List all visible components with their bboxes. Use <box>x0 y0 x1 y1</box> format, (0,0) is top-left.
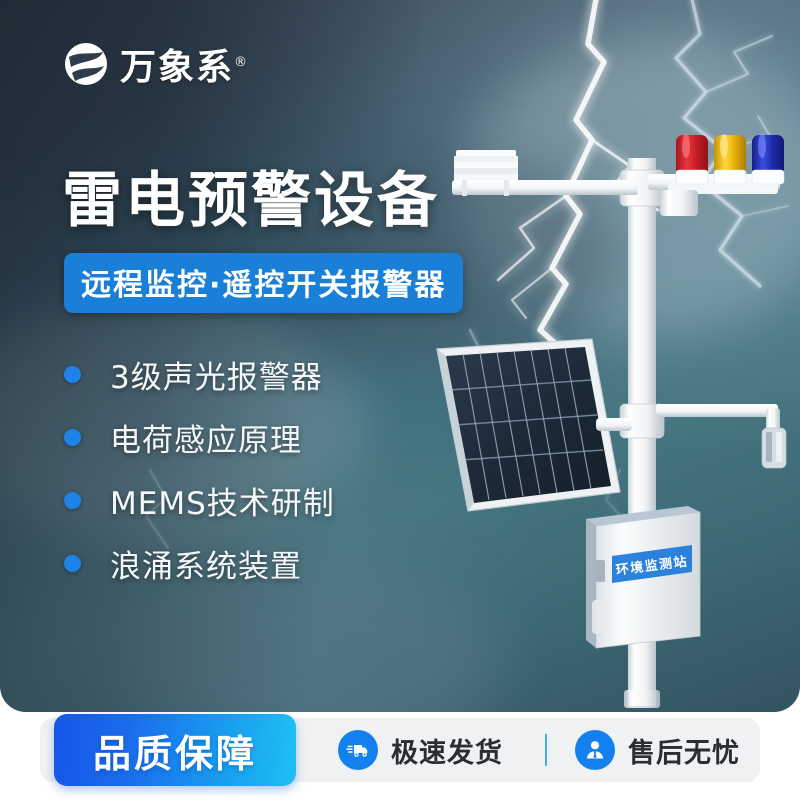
bullet-dot-icon <box>64 492 81 509</box>
list-item: MEMS技术研制 <box>64 470 335 530</box>
page-title: 雷电预警设备 <box>62 152 440 239</box>
trust-item-after-sales[interactable]: 售后无忧 <box>575 730 740 770</box>
delivery-truck-icon <box>338 730 378 770</box>
trust-bar-divider <box>545 734 547 766</box>
feature-label: 浪涌系统装置 <box>110 541 302 586</box>
bullet-dot-icon <box>64 555 81 572</box>
brand-name: 万象系® <box>120 38 247 90</box>
brand-sphere-icon <box>62 40 110 88</box>
list-item: 浪涌系统装置 <box>64 533 335 593</box>
product-poster: 环境监测站 万象系® 雷电预警设备 远程监控·遥控开关报警器 3级声光报警器 <box>0 0 800 800</box>
brand-logo: 万象系® <box>62 38 247 90</box>
subtitle-badge: 远程监控·遥控开关报警器 <box>64 253 463 313</box>
bullet-dot-icon <box>64 366 81 383</box>
solar-panel <box>437 339 632 511</box>
quality-guarantee-badge[interactable]: 品质保障 <box>54 714 296 786</box>
feature-list: 3级声光报警器 电荷感应原理 MEMS技术研制 浪涌系统装置 <box>64 344 335 596</box>
list-item: 3级声光报警器 <box>64 344 335 404</box>
feature-label: 3级声光报警器 <box>110 352 323 397</box>
feature-label: 电荷感应原理 <box>110 415 302 460</box>
hero-background: 环境监测站 万象系® 雷电预警设备 远程监控·遥控开关报警器 3级声光报警器 <box>0 0 800 712</box>
list-item: 电荷感应原理 <box>64 407 335 467</box>
trust-item-label: 售后无忧 <box>628 731 740 770</box>
trust-item-label: 极速发货 <box>391 731 503 770</box>
quality-guarantee-label: 品质保障 <box>93 723 257 778</box>
camera-sensor <box>656 404 786 468</box>
trust-item-fast-shipping[interactable]: 极速发货 <box>338 730 503 770</box>
feature-label: MEMS技术研制 <box>110 478 335 523</box>
blue-alarm-beacon <box>752 134 784 184</box>
bullet-dot-icon <box>64 429 81 446</box>
yellow-alarm-beacon <box>714 134 746 184</box>
registered-mark: ® <box>234 55 247 70</box>
red-alarm-beacon <box>676 134 708 184</box>
customer-service-icon <box>575 730 615 770</box>
trust-bar: 品质保障 极速发货 <box>40 718 760 782</box>
